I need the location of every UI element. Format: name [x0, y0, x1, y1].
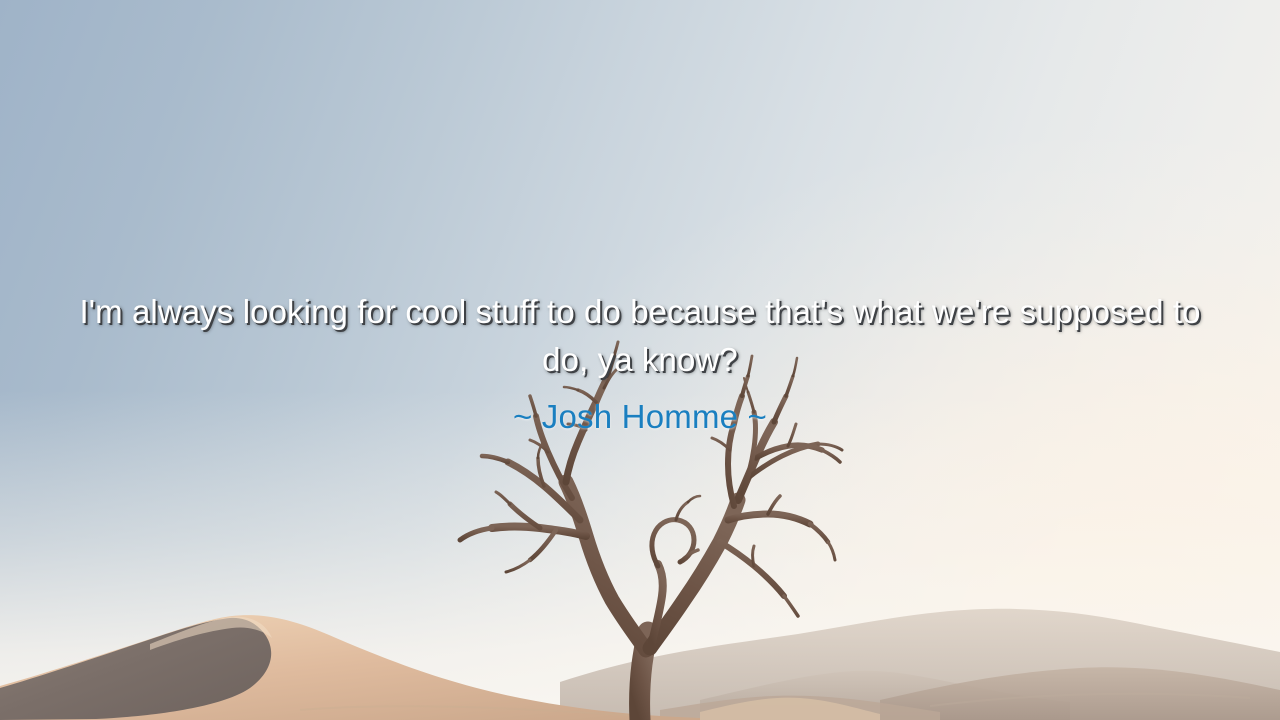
quote-overlay: I'm always looking for cool stuff to do …	[0, 288, 1280, 440]
sand-dunes	[0, 560, 1280, 720]
quote-card: I'm always looking for cool stuff to do …	[0, 0, 1280, 720]
quote-text: I'm always looking for cool stuff to do …	[60, 288, 1220, 384]
quote-author: ~ Josh Homme ~	[60, 394, 1220, 440]
